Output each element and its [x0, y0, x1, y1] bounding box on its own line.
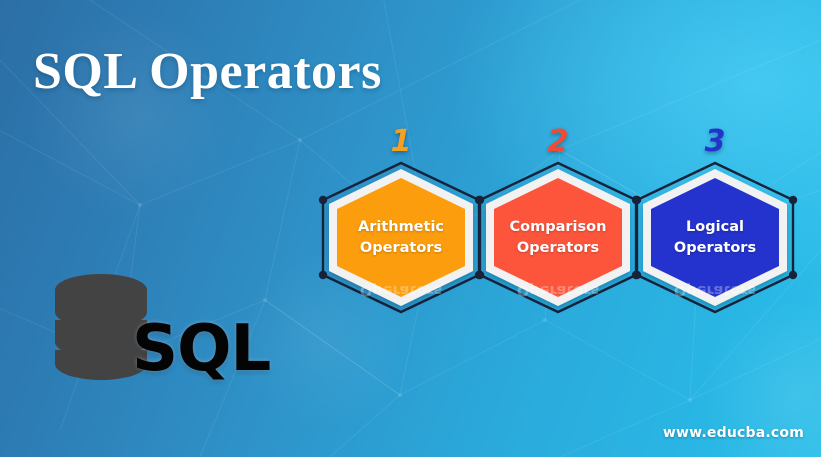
- slide-canvas: SQL Operators SQL 1: [0, 0, 821, 457]
- hexagon-step-number: 1: [316, 127, 486, 157]
- hexagon-row: 1: [316, 160, 786, 315]
- hexagon-card-comparison-operators[interactable]: 2 Operators Comparison: [473, 160, 643, 315]
- hexagon-card-arithmetic-operators[interactable]: 1: [316, 160, 486, 315]
- hexagon-shape: [473, 160, 643, 315]
- site-watermark: www.educba.com: [663, 425, 804, 441]
- hexagon-shape: [316, 160, 486, 315]
- sql-logo: SQL: [52, 272, 282, 402]
- hexagon-step-number: 2: [473, 127, 643, 157]
- hexagon-shape: [630, 160, 800, 315]
- hexagon-card-logical-operators[interactable]: 3 Operators Logical: [630, 160, 800, 315]
- sql-wordmark: SQL: [132, 317, 270, 381]
- hexagon-step-number: 3: [630, 127, 800, 157]
- page-title: SQL Operators: [33, 42, 382, 102]
